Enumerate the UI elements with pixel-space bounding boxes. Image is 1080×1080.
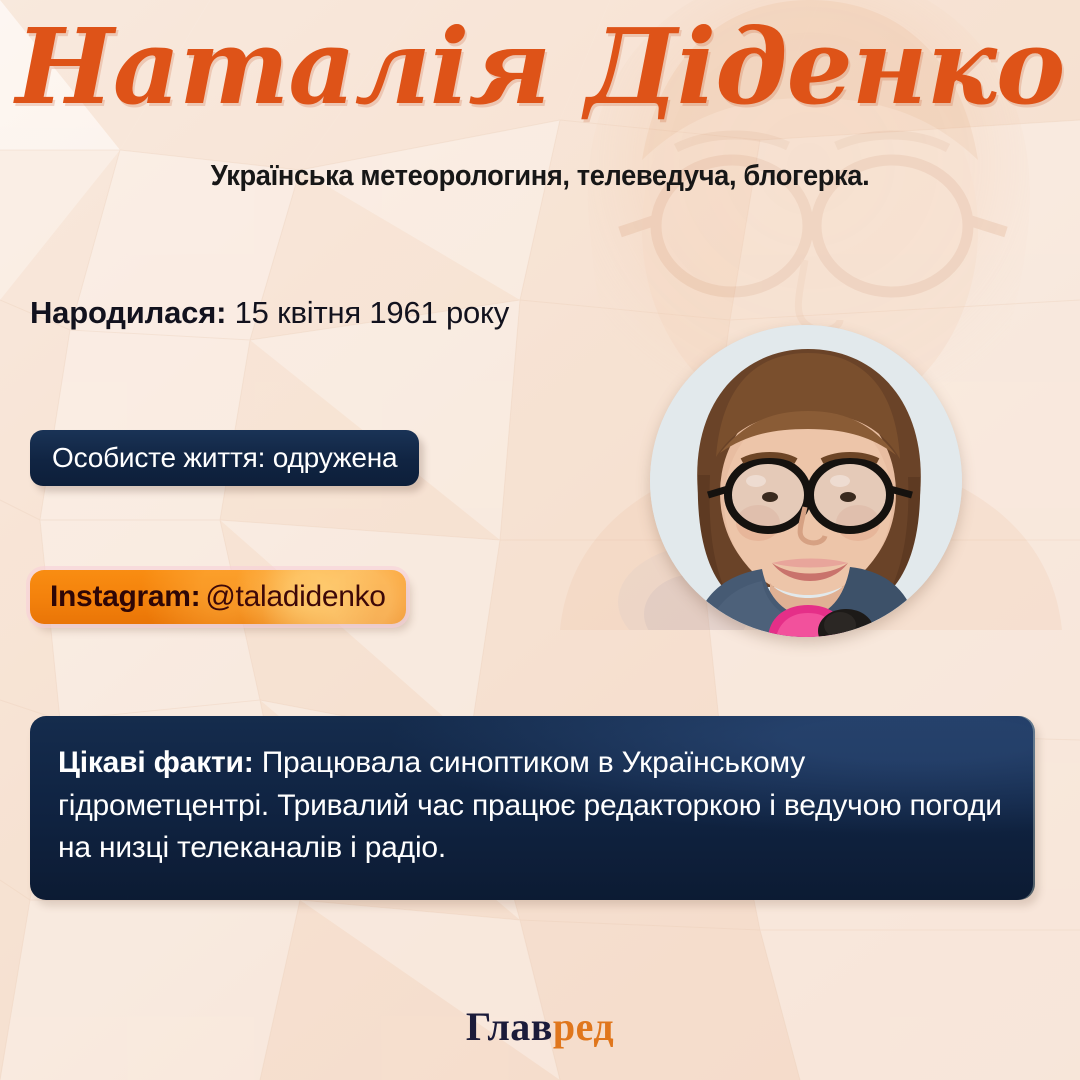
- born-label: Народилася:: [30, 295, 226, 330]
- instagram-label: Instagram:: [50, 580, 200, 614]
- instagram-badge[interactable]: Instagram: @taladidenko: [30, 570, 406, 624]
- facts-label: Цікаві факти:: [58, 746, 254, 779]
- logo-part-orange: ред: [553, 1004, 614, 1049]
- page-subtitle: Українська метеорологиня, телеведуча, бл…: [32, 160, 1047, 193]
- page-title: Наталія Діденко: [0, 10, 1080, 124]
- instagram-handle[interactable]: @taladidenko: [205, 580, 385, 614]
- personal-life-badge: Особисте життя: одружена: [30, 430, 419, 486]
- born-value: 15 квітня 1961 року: [235, 295, 509, 330]
- avatar: [650, 325, 962, 637]
- site-logo[interactable]: Главред: [0, 1003, 1080, 1050]
- facts-box: Цікаві факти: Працювала синоптиком в Укр…: [30, 716, 1035, 900]
- infographic-card: Наталія Діденко Українська метеорологиня…: [0, 0, 1080, 1080]
- personal-life-text: Особисте життя: одружена: [52, 442, 397, 474]
- logo-part-dark: Глав: [466, 1004, 553, 1049]
- born-line: Народилася: 15 квітня 1961 року: [30, 295, 509, 331]
